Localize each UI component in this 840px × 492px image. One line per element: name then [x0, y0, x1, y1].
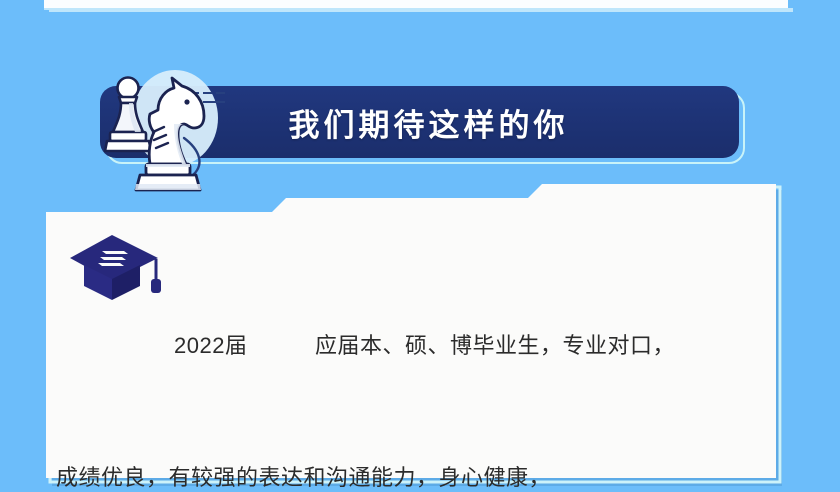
- recruitment-poster: 我们期待这样的你: [0, 0, 840, 492]
- requirements-line-2: 成绩优良，有较强的表达和沟通能力，身心健康，: [56, 456, 762, 492]
- requirements-text: 2022届 应届本、硕、博毕业生，专业对口， 成绩优良，有较强的表达和沟通能力，…: [56, 236, 762, 492]
- content-card: 2022届 应届本、硕、博毕业生，专业对口， 成绩优良，有较强的表达和沟通能力，…: [0, 0, 840, 492]
- requirements-line-1: 2022届 应届本、硕、博毕业生，专业对口，: [56, 324, 762, 368]
